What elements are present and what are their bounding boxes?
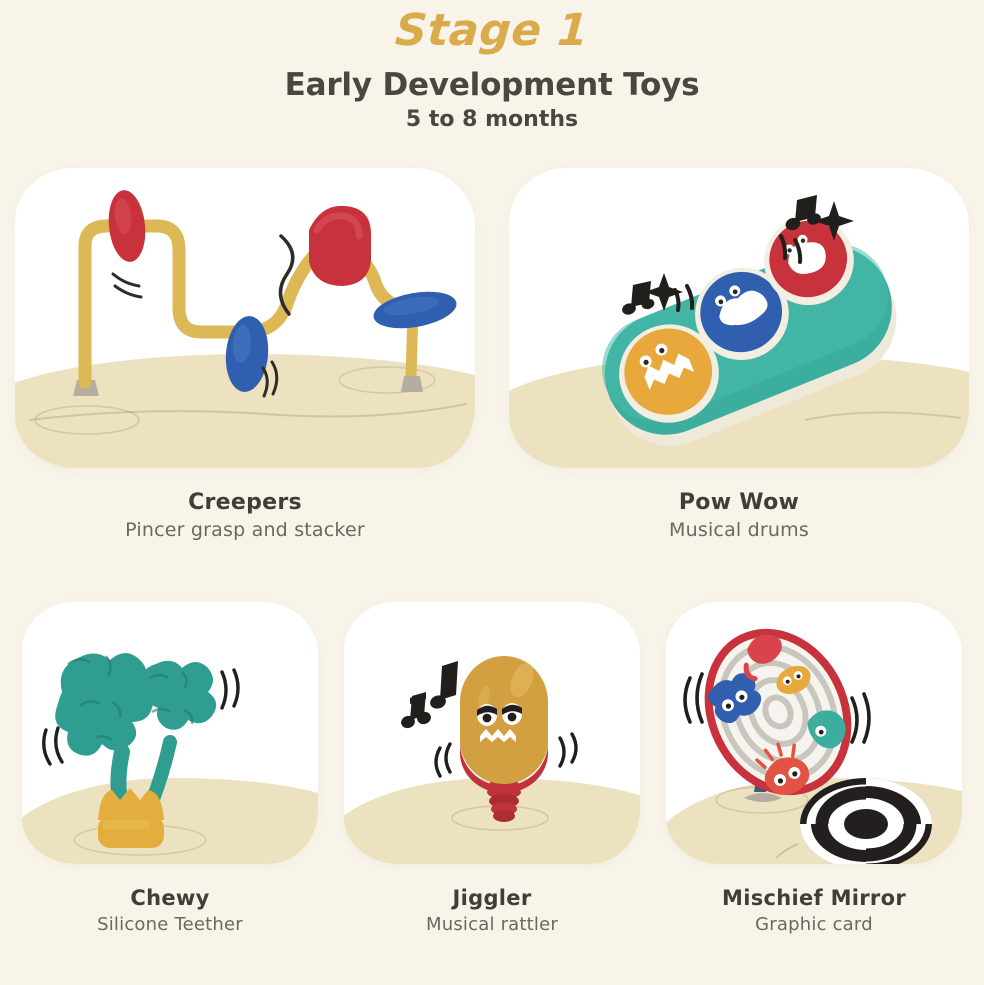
chewy-illustration xyxy=(22,602,318,864)
teether-base xyxy=(98,788,164,848)
creepers-caption: Creepers Pincer grasp and stacker xyxy=(15,490,475,542)
card-row-top: Creepers Pincer grasp and stacker xyxy=(0,168,984,542)
stage-title: Stage 1 xyxy=(0,8,984,54)
creepers-illustration xyxy=(15,168,475,468)
mischief-mirror-illustration xyxy=(666,602,962,864)
jiggler-caption: Jiggler Musical rattler xyxy=(344,886,640,936)
silicone-teether-toy-icon xyxy=(22,602,318,864)
toy-description: Pincer grasp and stacker xyxy=(15,519,475,542)
pow-wow-illustration xyxy=(509,168,969,468)
red-bead-left xyxy=(105,188,148,263)
page-title: Early Development Toys xyxy=(0,68,984,102)
toy-description: Musical drums xyxy=(509,519,969,542)
age-range-subtitle: 5 to 8 months xyxy=(0,108,984,132)
poster-header: Stage 1 Early Development Toys 5 to 8 mo… xyxy=(0,0,984,132)
toy-card-mischief-mirror[interactable]: Mischief Mirror Graphic card xyxy=(666,602,962,936)
jiggler-illustration xyxy=(344,602,640,864)
toy-description: Silicone Teether xyxy=(22,914,318,936)
three-button-drum-toy-icon xyxy=(509,168,969,468)
toy-name: Mischief Mirror xyxy=(666,886,962,910)
spinning-graphic-mirror-card-icon xyxy=(666,602,962,864)
pow-wow-caption: Pow Wow Musical drums xyxy=(509,490,969,542)
toy-card-jiggler[interactable]: Jiggler Musical rattler xyxy=(344,602,640,936)
wire-bead-stacker-toy-icon xyxy=(15,168,475,468)
music-notes xyxy=(399,661,458,730)
toy-name: Creepers xyxy=(15,490,475,515)
card-row-bottom: Chewy Silicone Teether xyxy=(0,602,984,936)
toy-card-chewy[interactable]: Chewy Silicone Teether xyxy=(22,602,318,936)
chewy-caption: Chewy Silicone Teether xyxy=(22,886,318,936)
rattle-capsule-body xyxy=(460,656,548,793)
teether-leaf-right xyxy=(141,661,217,730)
toy-card-pow-wow[interactable]: Pow Wow Musical drums xyxy=(509,168,969,542)
toy-card-creepers[interactable]: Creepers Pincer grasp and stacker xyxy=(15,168,475,542)
stage-poster: Stage 1 Early Development Toys 5 to 8 mo… xyxy=(0,0,984,985)
wobbling-capsule-rattle-toy-icon xyxy=(344,602,640,864)
teether-leaf-left xyxy=(55,653,153,756)
mischief-mirror-caption: Mischief Mirror Graphic card xyxy=(666,886,962,936)
music-note-left xyxy=(621,281,656,316)
toy-name: Pow Wow xyxy=(509,490,969,515)
toy-name: Chewy xyxy=(22,886,318,910)
toy-description: Musical rattler xyxy=(344,914,640,936)
red-bead-right xyxy=(309,206,371,286)
toy-description: Graphic card xyxy=(666,914,962,936)
toy-name: Jiggler xyxy=(344,886,640,910)
